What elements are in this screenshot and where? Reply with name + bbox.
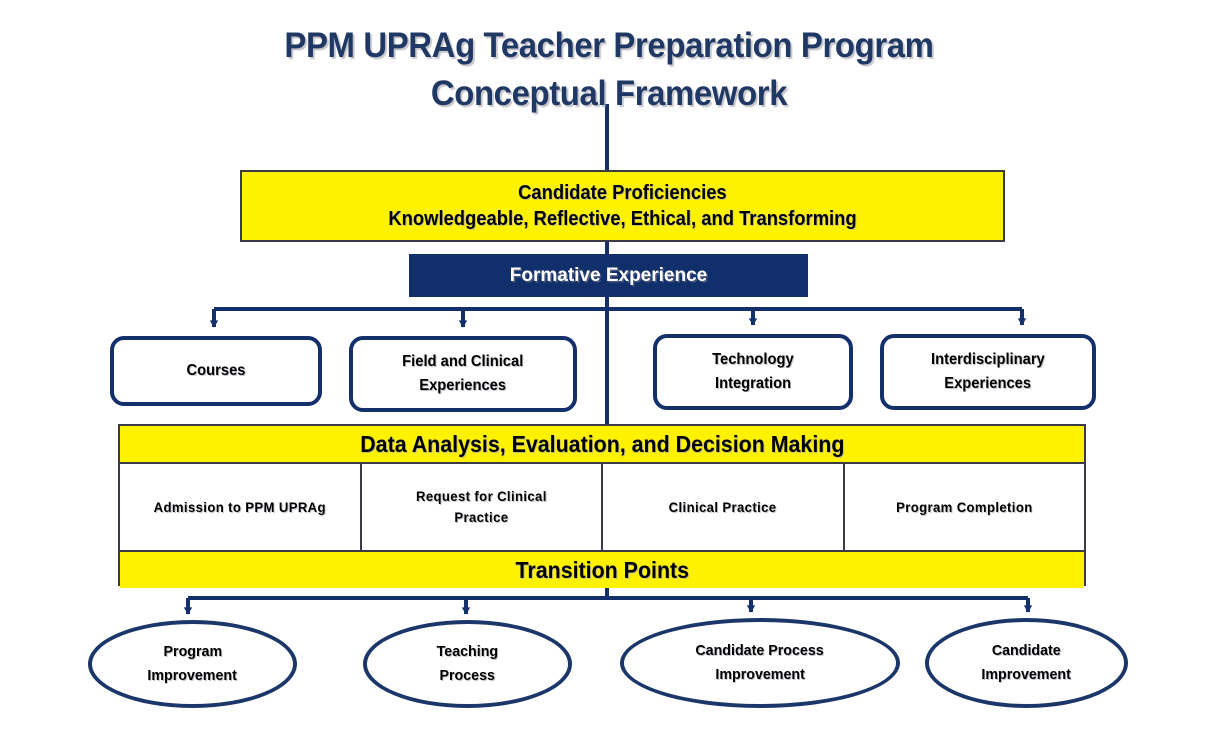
candidate-proficiencies-subheading: Knowledgeable, Reflective, Ethical, and …	[388, 206, 856, 233]
outcome-program-line1: Program	[163, 640, 222, 664]
formative-experience-label: Formative Experience	[510, 265, 707, 287]
component-box-field-and-clinical-experiences: Field and Clinical Experiences	[349, 336, 577, 412]
title-line-2: Conceptual Framework	[37, 70, 1182, 118]
component-technology-line2: Integration	[715, 372, 791, 396]
outcome-candidate-process-line1: Candidate Process	[696, 639, 824, 663]
component-courses-line1: Courses	[187, 359, 246, 383]
outcome-candidate-line2: Improvement	[982, 663, 1071, 687]
component-technology-line1: Technology	[712, 348, 794, 372]
transition-points-footer-bar: Transition Points	[120, 550, 1084, 588]
component-field-line1: Field and Clinical	[402, 350, 523, 374]
transition-points-row: Admission to PPM UPRAg Request for Clini…	[120, 464, 1084, 550]
transition-cell-completion-line1: Program Completion	[896, 497, 1032, 518]
transition-cell-request-clinical-practice: Request for Clinical Practice	[362, 464, 604, 550]
outcome-oval-program-improvement: Program Improvement	[88, 620, 297, 708]
outcome-oval-teaching-process: Teaching Process	[363, 620, 572, 708]
component-box-courses: Courses	[110, 336, 322, 406]
component-interdisciplinary-line1: Interdisciplinary	[931, 348, 1045, 372]
transition-cell-admission: Admission to PPM UPRAg	[120, 464, 362, 550]
transition-cell-admission-line1: Admission to PPM UPRAg	[154, 497, 326, 518]
page-title: PPM UPRAg Teacher Preparation Program Co…	[37, 22, 1182, 118]
outcome-teaching-line2: Process	[440, 664, 495, 688]
outcome-oval-candidate-improvement: Candidate Improvement	[925, 618, 1128, 708]
outcome-candidate-line1: Candidate	[992, 639, 1061, 663]
component-box-interdisciplinary-experiences: Interdisciplinary Experiences	[880, 334, 1096, 410]
data-analysis-section: Data Analysis, Evaluation, and Decision …	[118, 424, 1086, 586]
data-analysis-heading-bar: Data Analysis, Evaluation, and Decision …	[120, 426, 1084, 464]
transition-cell-program-completion: Program Completion	[845, 464, 1085, 550]
outcome-program-line2: Improvement	[148, 664, 237, 688]
data-analysis-heading: Data Analysis, Evaluation, and Decision …	[360, 431, 844, 458]
outcome-teaching-line1: Teaching	[437, 640, 498, 664]
candidate-proficiencies-heading: Candidate Proficiencies	[518, 180, 727, 206]
formative-experience-bar: Formative Experience	[409, 254, 808, 297]
conceptual-framework-diagram: PPM UPRAg Teacher Preparation Program Co…	[0, 0, 1218, 739]
component-box-technology-integration: Technology Integration	[653, 334, 853, 410]
transition-cell-clinical-line1: Clinical Practice	[669, 497, 777, 518]
component-interdisciplinary-line2: Experiences	[945, 372, 1032, 396]
transition-cell-clinical-practice: Clinical Practice	[603, 464, 845, 550]
transition-cell-request-line1: Request for Clinical	[416, 486, 547, 507]
title-line-1: PPM UPRAg Teacher Preparation Program	[37, 22, 1182, 70]
outcome-candidate-process-line2: Improvement	[715, 663, 804, 687]
transition-cell-request-line2: Practice	[416, 507, 547, 528]
component-field-line2: Experiences	[420, 374, 507, 398]
transition-points-label: Transition Points	[515, 557, 689, 584]
candidate-proficiencies-box: Candidate Proficiencies Knowledgeable, R…	[240, 170, 1005, 242]
outcome-oval-candidate-process-improvement: Candidate Process Improvement	[620, 618, 900, 708]
